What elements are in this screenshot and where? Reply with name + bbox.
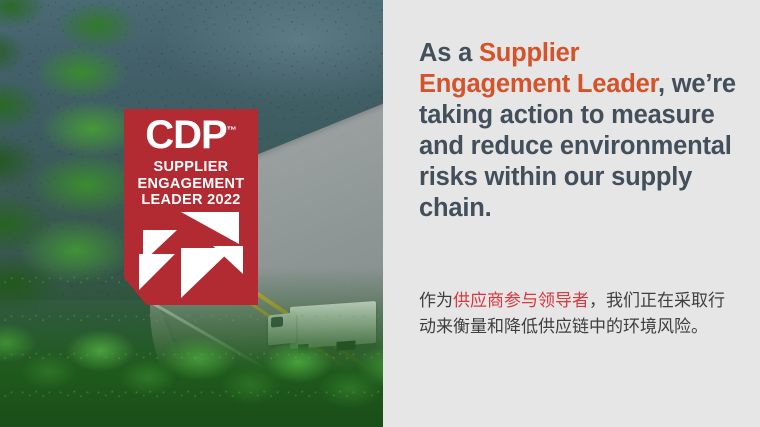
cdp-award-badge: CDP™ SUPPLIER ENGAGEMENT LEADER 2022 (124, 109, 258, 305)
subline-chinese: 作为供应商参与领导者，我们正在采取行动来衡量和降低供应链中的环境风险。 (419, 288, 737, 340)
badge-subtitle: SUPPLIER ENGAGEMENT LEADER 2022 (124, 159, 258, 209)
text-panel: As a Supplier Engagement Leader, we’re t… (383, 0, 760, 427)
cdp-logo-mark-icon (135, 212, 247, 298)
trademark-icon: ™ (227, 126, 237, 137)
subline-accent: 供应商参与领导者 (453, 291, 589, 310)
cdp-wordmark: CDP™ (124, 115, 258, 155)
slide-canvas: CDP™ SUPPLIER ENGAGEMENT LEADER 2022 (0, 0, 760, 427)
headline: As a Supplier Engagement Leader, we’re t… (419, 38, 737, 224)
subline-part-1: 作为 (419, 291, 453, 310)
badge-line-engagement: ENGAGEMENT (124, 176, 258, 193)
badge-line-supplier: SUPPLIER (124, 159, 258, 176)
hero-photo: CDP™ SUPPLIER ENGAGEMENT LEADER 2022 (0, 0, 383, 427)
headline-part-1: As a (419, 39, 479, 67)
badge-line-leader-year: LEADER 2022 (124, 192, 258, 209)
cdp-wordmark-text: CDP (145, 113, 226, 157)
